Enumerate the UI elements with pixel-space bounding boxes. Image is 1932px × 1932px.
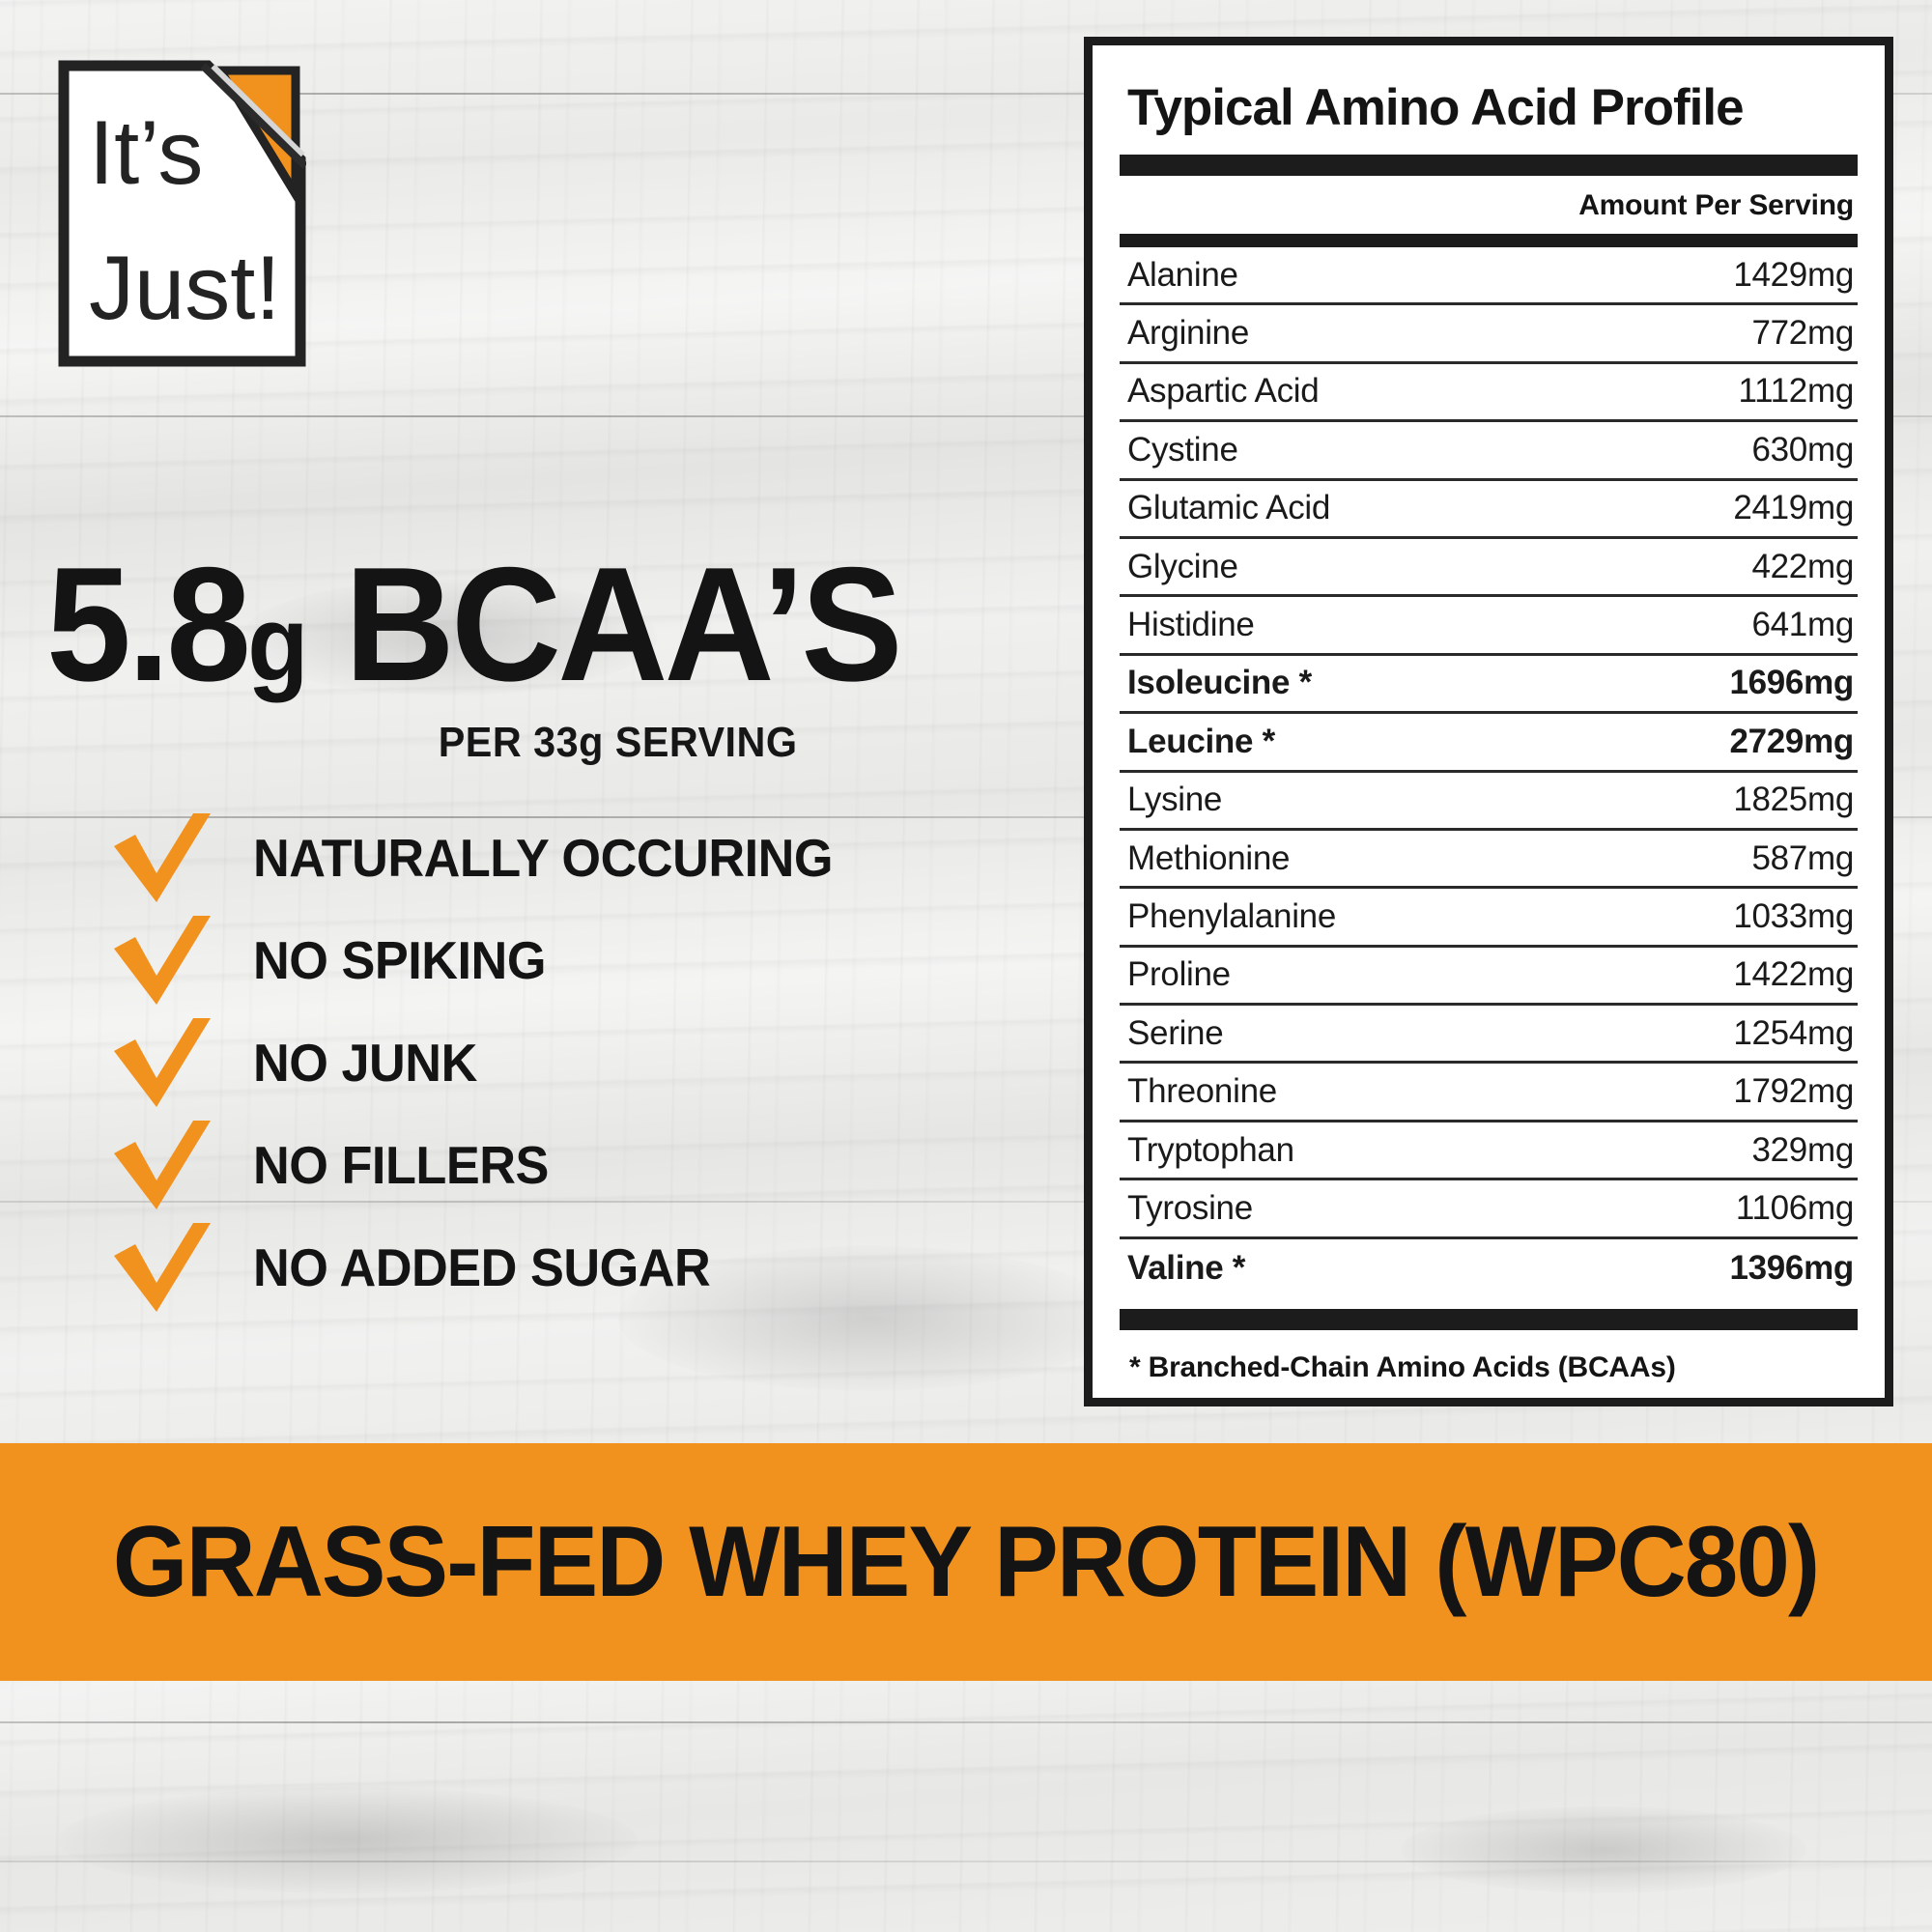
table-row: Methionine 587mg: [1120, 831, 1858, 889]
amino-value: 1429mg: [1733, 256, 1854, 295]
amino-value: 1033mg: [1733, 897, 1854, 936]
amino-name: Isoleucine *: [1127, 664, 1312, 702]
table-row: Proline 1422mg: [1120, 948, 1858, 1006]
table-row: Isoleucine * 1696mg: [1120, 656, 1858, 714]
headline-block: 5.8g BCAA’S PER 33g SERVING: [46, 543, 1032, 767]
table-row: Tyrosine 1106mg: [1120, 1180, 1858, 1238]
amino-name: Phenylalanine: [1127, 897, 1336, 936]
headline-unit: g: [247, 584, 305, 703]
amino-value: 2419mg: [1733, 489, 1854, 527]
checkmark-icon: [114, 1223, 226, 1312]
amino-name: Leucine *: [1127, 723, 1275, 761]
list-item: NO SPIKING: [114, 916, 1041, 1005]
benefit-label: NO ADDED SUGAR: [253, 1236, 710, 1298]
benefit-label: NO JUNK: [253, 1032, 477, 1094]
headline-term: BCAA’S: [306, 533, 899, 715]
amino-name: Glutamic Acid: [1127, 489, 1330, 527]
brand-logo[interactable]: It’s Just!: [58, 60, 306, 367]
benefit-label: NO SPIKING: [253, 929, 546, 991]
page-title: 5.8g BCAA’S: [46, 543, 973, 705]
table-row: Tryptophan 329mg: [1120, 1122, 1858, 1180]
amino-name: Proline: [1127, 955, 1231, 994]
amino-name: Histidine: [1127, 606, 1255, 644]
amino-name: Alanine: [1127, 256, 1238, 295]
table-row: Serine 1254mg: [1120, 1006, 1858, 1064]
amino-acid-profile-panel: Typical Amino Acid Profile Amount Per Se…: [1084, 37, 1893, 1406]
table-row: Glutamic Acid 2419mg: [1120, 481, 1858, 539]
amino-value: 1825mg: [1733, 781, 1854, 819]
amino-name: Aspartic Acid: [1127, 372, 1319, 411]
bcaa-footnote: * Branched-Chain Amino Acids (BCAAs): [1120, 1330, 1858, 1384]
table-row: Aspartic Acid 1112mg: [1120, 364, 1858, 422]
amino-value: 1106mg: [1736, 1189, 1854, 1228]
table-row: Valine * 1396mg: [1120, 1239, 1858, 1297]
list-item: NO FILLERS: [114, 1121, 1041, 1209]
amino-name: Valine *: [1127, 1249, 1245, 1288]
amino-value: 772mg: [1751, 314, 1854, 353]
amino-value: 1792mg: [1733, 1072, 1854, 1111]
checkmark-icon: [114, 1121, 226, 1209]
amino-acid-table: Alanine 1429mg Arginine 772mg Aspartic A…: [1120, 247, 1858, 1297]
headline-amount: 5.8: [46, 533, 247, 715]
benefit-label: NATURALLY OCCURING: [253, 827, 833, 889]
table-row: Phenylalanine 1033mg: [1120, 889, 1858, 947]
amino-name: Serine: [1127, 1014, 1223, 1053]
amino-value: 422mg: [1751, 548, 1854, 586]
panel-rule-top: [1120, 155, 1858, 176]
serving-size-note: PER 33g SERVING: [105, 719, 1032, 767]
amino-name: Tyrosine: [1127, 1189, 1253, 1228]
amino-value: 587mg: [1751, 839, 1854, 878]
logo-line2-text: Just!: [89, 237, 281, 338]
amino-value: 641mg: [1751, 606, 1854, 644]
list-item: NO JUNK: [114, 1018, 1041, 1107]
amino-value: 1112mg: [1739, 372, 1855, 411]
panel-rule-bottom: [1120, 1309, 1858, 1330]
amino-name: Methionine: [1127, 839, 1290, 878]
amino-name: Lysine: [1127, 781, 1222, 819]
amino-name: Arginine: [1127, 314, 1249, 353]
list-item: NATURALLY OCCURING: [114, 813, 1041, 902]
amino-name: Glycine: [1127, 548, 1238, 586]
table-row: Alanine 1429mg: [1120, 247, 1858, 305]
amount-per-serving-header: Amount Per Serving: [1120, 176, 1858, 234]
amino-name: Tryptophan: [1127, 1131, 1294, 1170]
amino-value: 630mg: [1751, 431, 1854, 469]
product-type-label: GRASS-FED WHEY PROTEIN (WPC80): [113, 1505, 1819, 1620]
amino-value: 1696mg: [1729, 664, 1854, 702]
checkmark-icon: [114, 813, 226, 902]
table-row: Lysine 1825mg: [1120, 773, 1858, 831]
table-row: Cystine 630mg: [1120, 422, 1858, 480]
amino-name: Threonine: [1127, 1072, 1277, 1111]
checkmark-icon: [114, 916, 226, 1005]
table-row: Arginine 772mg: [1120, 305, 1858, 363]
table-row: Threonine 1792mg: [1120, 1064, 1858, 1122]
amino-value: 1396mg: [1729, 1249, 1854, 1288]
amino-value: 2729mg: [1729, 723, 1854, 761]
benefits-list: NATURALLY OCCURING NO SPIKING NO JUNK NO…: [114, 813, 1041, 1312]
list-item: NO ADDED SUGAR: [114, 1223, 1041, 1312]
table-row: Leucine * 2729mg: [1120, 714, 1858, 772]
benefit-label: NO FILLERS: [253, 1134, 549, 1196]
amino-value: 1254mg: [1733, 1014, 1854, 1053]
amino-value: 1422mg: [1733, 955, 1854, 994]
product-type-banner: GRASS-FED WHEY PROTEIN (WPC80): [0, 1443, 1932, 1681]
table-row: Histidine 641mg: [1120, 597, 1858, 655]
panel-rule-header: [1120, 234, 1858, 247]
table-row: Glycine 422mg: [1120, 539, 1858, 597]
amino-value: 329mg: [1751, 1131, 1854, 1170]
amino-panel-title: Typical Amino Acid Profile: [1127, 78, 1858, 137]
checkmark-icon: [114, 1018, 226, 1107]
amino-name: Cystine: [1127, 431, 1238, 469]
logo-line1-text: It’s: [89, 101, 203, 203]
